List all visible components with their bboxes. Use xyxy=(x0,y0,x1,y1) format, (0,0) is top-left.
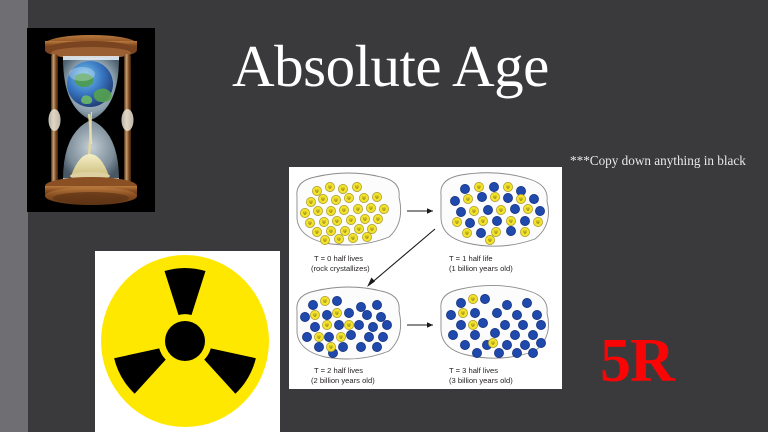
svg-text:U: U xyxy=(523,230,526,235)
svg-text:U: U xyxy=(337,237,340,242)
svg-text:U: U xyxy=(519,197,522,202)
svg-text:U: U xyxy=(362,196,365,201)
stage-label-t2-line1: T = 2 half lives xyxy=(314,366,363,376)
page-title: Absolute Age xyxy=(232,37,672,96)
half-life-diagram-image: UUU UUU UUU UUU UUU UUU UUU UUU UUU UUU … xyxy=(289,167,562,389)
svg-text:U: U xyxy=(375,195,378,200)
svg-text:U: U xyxy=(347,196,350,201)
radioactive-trefoil-icon xyxy=(95,251,280,432)
svg-text:U: U xyxy=(509,219,512,224)
svg-text:U: U xyxy=(313,313,316,318)
svg-text:U: U xyxy=(329,209,332,214)
stage-label-t1-line2: (1 billion years old) xyxy=(449,264,513,274)
svg-text:U: U xyxy=(382,207,385,212)
stage-label-t1-line1: T = 1 half life xyxy=(449,254,493,264)
svg-text:U: U xyxy=(370,227,373,232)
svg-text:U: U xyxy=(347,323,350,328)
svg-text:U: U xyxy=(325,323,328,328)
svg-text:U: U xyxy=(481,219,484,224)
svg-text:U: U xyxy=(317,335,320,340)
svg-text:U: U xyxy=(493,195,496,200)
svg-text:U: U xyxy=(351,236,354,241)
svg-text:U: U xyxy=(499,208,502,213)
svg-text:U: U xyxy=(322,220,325,225)
svg-text:U: U xyxy=(308,221,311,226)
svg-text:U: U xyxy=(343,229,346,234)
svg-text:U: U xyxy=(321,197,324,202)
svg-text:U: U xyxy=(526,207,529,212)
svg-text:U: U xyxy=(329,345,332,350)
svg-text:U: U xyxy=(477,185,480,190)
instruction-note: ***Copy down anything in black xyxy=(570,152,758,169)
svg-text:U: U xyxy=(342,208,345,213)
svg-text:U: U xyxy=(315,230,318,235)
svg-text:U: U xyxy=(365,235,368,240)
svg-text:U: U xyxy=(349,218,352,223)
svg-text:U: U xyxy=(471,297,474,302)
class-code-label: 5R xyxy=(600,330,674,392)
svg-text:U: U xyxy=(323,238,326,243)
svg-text:U: U xyxy=(472,209,475,214)
svg-text:U: U xyxy=(363,217,366,222)
slide-canvas: UUU UUU UUU UUU UUU UUU UUU UUU UUU UUU … xyxy=(0,0,768,432)
svg-text:U: U xyxy=(506,185,509,190)
hourglass-image xyxy=(27,28,155,212)
radioactive-symbol-image xyxy=(95,251,280,432)
svg-text:U: U xyxy=(335,219,338,224)
svg-text:U: U xyxy=(471,323,474,328)
svg-text:U: U xyxy=(329,229,332,234)
svg-text:U: U xyxy=(466,197,469,202)
svg-text:U: U xyxy=(335,311,338,316)
svg-text:U: U xyxy=(334,198,337,203)
svg-text:U: U xyxy=(323,299,326,304)
svg-text:U: U xyxy=(491,341,494,346)
svg-text:U: U xyxy=(303,211,306,216)
svg-text:U: U xyxy=(341,187,344,192)
svg-text:U: U xyxy=(455,220,458,225)
stage-label-t3-line2: (3 billion years old) xyxy=(449,376,513,386)
svg-text:U: U xyxy=(465,231,468,236)
svg-text:U: U xyxy=(356,207,359,212)
stage-label-t0-line1: T = 0 half lives xyxy=(314,254,363,264)
svg-text:U: U xyxy=(328,185,331,190)
svg-text:U: U xyxy=(376,217,379,222)
stage-label-t0-line2: (rock crystallizes) xyxy=(311,264,370,274)
stage-label-t2-line2: (2 billion years old) xyxy=(311,376,375,386)
svg-text:U: U xyxy=(339,335,342,340)
svg-text:U: U xyxy=(316,209,319,214)
svg-text:U: U xyxy=(369,206,372,211)
svg-text:U: U xyxy=(309,200,312,205)
svg-text:U: U xyxy=(315,189,318,194)
left-accent-band xyxy=(0,0,28,432)
svg-text:U: U xyxy=(357,227,360,232)
svg-text:U: U xyxy=(355,185,358,190)
stage-label-t3-line1: T = 3 half lives xyxy=(449,366,498,376)
half-life-diagram: UUU UUU UUU UUU UUU UUU UUU UUU UUU UUU … xyxy=(289,167,562,389)
svg-text:U: U xyxy=(461,311,464,316)
svg-text:U: U xyxy=(494,230,497,235)
hourglass-icon xyxy=(27,28,155,212)
svg-text:U: U xyxy=(488,238,491,243)
svg-text:U: U xyxy=(536,220,539,225)
